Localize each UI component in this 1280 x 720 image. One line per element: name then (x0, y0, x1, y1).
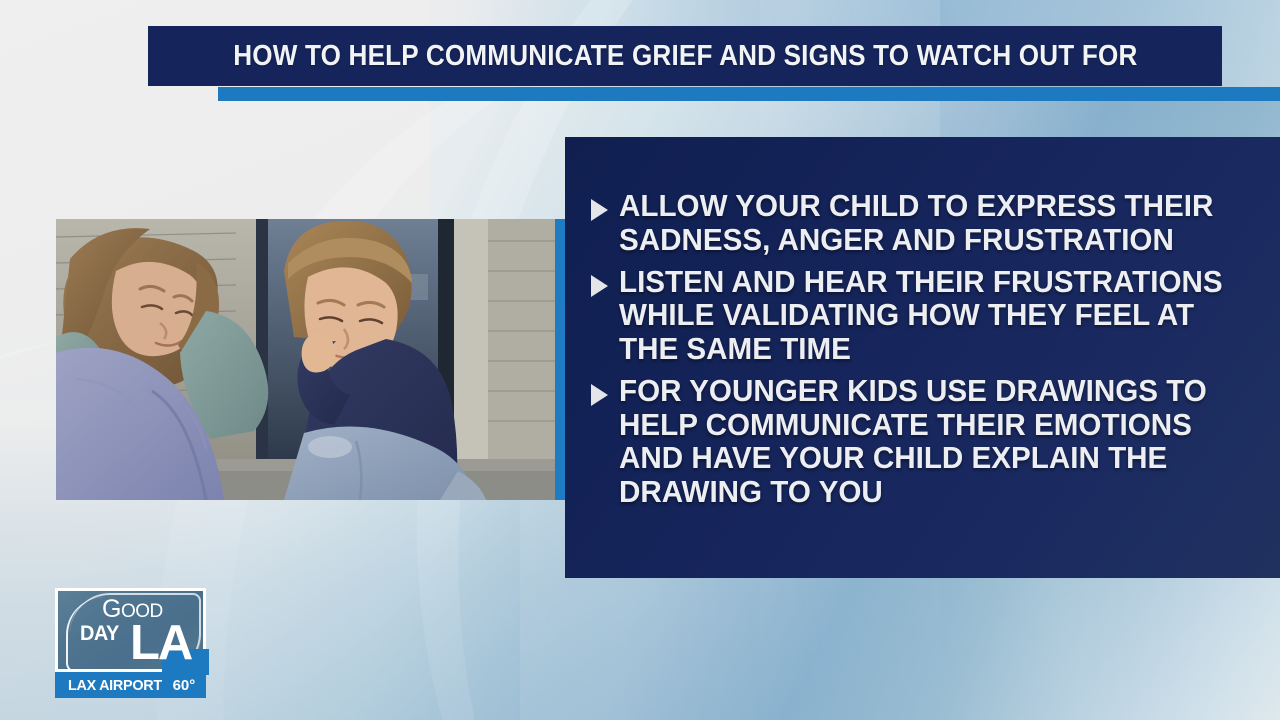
bullet-list: ALLOW YOUR CHILD TO EXPRESS THEIR SADNES… (579, 189, 1262, 517)
triangle-right-icon (579, 265, 619, 297)
headline-bar: HOW TO HELP COMMUNICATE GRIEF AND SIGNS … (148, 26, 1222, 86)
list-item: ALLOW YOUR CHILD TO EXPRESS THEIR SADNES… (579, 189, 1262, 257)
bullet-text: ALLOW YOUR CHILD TO EXPRESS THEIR SADNES… (619, 189, 1233, 257)
station-logo: GOOD DAY LA LAX AIRPORT 60° (55, 588, 206, 698)
list-item: FOR YOUNGER KIDS USE DRAWINGS TO HELP CO… (579, 374, 1262, 509)
bullet-text: LISTEN AND HEAR THEIR FRUSTRATIONS WHILE… (619, 265, 1233, 366)
headline-text: HOW TO HELP COMMUNICATE GRIEF AND SIGNS … (233, 40, 1137, 73)
broadcast-graphic: HOW TO HELP COMMUNICATE GRIEF AND SIGNS … (0, 0, 1280, 720)
weather-temperature: 60° (173, 677, 196, 694)
headline-accent-stripe (218, 87, 1280, 101)
photo-illustration (56, 219, 555, 500)
weather-bug: LAX AIRPORT 60° (55, 672, 206, 698)
triangle-right-icon (579, 374, 619, 406)
triangle-right-icon (579, 189, 619, 221)
photo-accent-stripe (555, 219, 565, 500)
bullet-text: FOR YOUNGER KIDS USE DRAWINGS TO HELP CO… (619, 374, 1233, 509)
logo-word-la: LA (130, 619, 191, 668)
bullets-panel: ALLOW YOUR CHILD TO EXPRESS THEIR SADNES… (565, 137, 1280, 578)
weather-location: LAX AIRPORT (68, 677, 162, 694)
logo-word-day: DAY (80, 623, 119, 644)
list-item: LISTEN AND HEAR THEIR FRUSTRATIONS WHILE… (579, 265, 1262, 366)
logo-badge: GOOD DAY LA (55, 588, 206, 672)
story-photo (56, 219, 555, 500)
